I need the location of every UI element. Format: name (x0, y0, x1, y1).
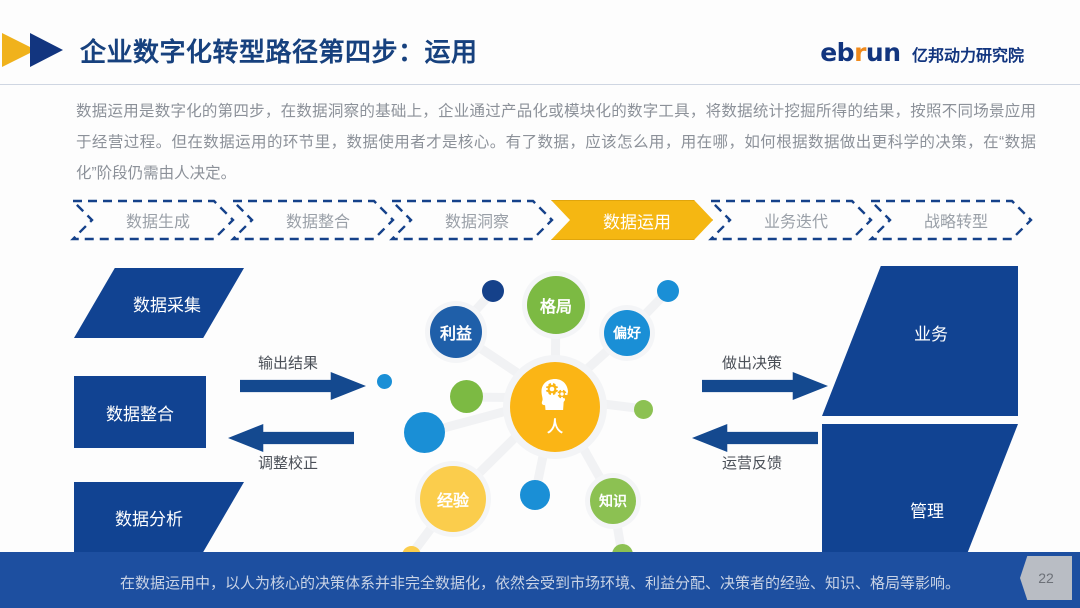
shape-data-analysis: 数据分析 (74, 482, 244, 552)
brand-wordmark: ebrun (820, 38, 900, 67)
intro-paragraph: 数据运用是数字化的第四步，在数据洞察的基础上，企业通过产品化或模块化的数字工具，… (76, 96, 1036, 189)
arrow-output-result-label: 输出结果 (258, 352, 318, 373)
arrow-operation-feedback-label: 运营反馈 (722, 452, 782, 473)
bubble-center-person: 人 (510, 362, 600, 452)
shape-business: 业务 (822, 266, 1018, 416)
bubble-dot (377, 374, 392, 389)
stepper-step-6[interactable]: 战略转型 (870, 200, 1032, 240)
bubble-1: 利益 (430, 306, 482, 358)
header-divider (0, 84, 1080, 85)
shape-data-analysis-label: 数据分析 (115, 505, 183, 530)
arrow-make-decision-label: 做出决策 (722, 352, 782, 373)
stepper-step-label: 数据运用 (593, 208, 671, 233)
bubble-label: 知识 (599, 491, 627, 511)
slide-canvas: 企业数字化转型路径第四步：运用 ebrun 亿邦动力研究院 数据运用是数字化的第… (0, 0, 1080, 608)
bubble-label: 偏好 (613, 323, 641, 343)
page-number-badge: 22 (1020, 556, 1072, 600)
arrow-adjust-correct-icon (228, 424, 354, 452)
brand-wordmark-accent: r (854, 38, 866, 67)
shape-management-label: 管理 (910, 497, 944, 522)
bubble-dot (404, 412, 445, 453)
bubble-label: 格局 (540, 293, 572, 317)
stepper-step-2[interactable]: 数据整合 (232, 200, 394, 240)
page-title: 企业数字化转型路径第四步：运用 (80, 32, 478, 69)
process-stepper: 数据生成数据整合数据洞察数据运用业务迭代战略转型 (72, 200, 1032, 240)
brand-wordmark-post: un (866, 38, 901, 67)
bubble-dot (520, 480, 550, 510)
stepper-step-5[interactable]: 业务迭代 (710, 200, 872, 240)
stepper-step-outline (870, 200, 1032, 240)
slide-header: 企业数字化转型路径第四步：运用 ebrun 亿邦动力研究院 (0, 0, 1080, 86)
bubble-dot (450, 380, 483, 413)
brand-wordmark-pre: eb (820, 38, 854, 67)
stepper-step-3[interactable]: 数据洞察 (391, 200, 553, 240)
head-gears-icon (535, 378, 575, 412)
bubble-network: 利益格局偏好经验知识 (372, 272, 702, 564)
shape-data-integration: 数据整合 (74, 376, 206, 448)
footer-caption: 在数据运用中，以人为核心的决策体系并非完全数据化，依然会受到市场环境、利益分配、… (0, 572, 1080, 593)
stepper-step-outline (391, 200, 553, 240)
arrow-adjust-correct-label: 调整校正 (258, 452, 318, 473)
shape-data-collection-label: 数据采集 (133, 291, 201, 316)
brand-logo: ebrun 亿邦动力研究院 (820, 40, 1024, 65)
bubble-5: 知识 (590, 478, 636, 524)
shape-data-collection: 数据采集 (74, 268, 244, 338)
stepper-step-outline (72, 200, 234, 240)
arrow-output-result-icon (240, 372, 366, 400)
bubble-4: 经验 (420, 466, 486, 532)
stepper-step-4[interactable]: 数据运用 (551, 200, 713, 240)
stepper-step-1[interactable]: 数据生成 (72, 200, 234, 240)
stepper-step-outline (232, 200, 394, 240)
arrow-make-decision-icon (702, 372, 828, 400)
bubble-center-label: 人 (547, 413, 563, 437)
shape-business-label: 业务 (914, 320, 948, 345)
brand-name-cn: 亿邦动力研究院 (912, 48, 1024, 65)
arrow-operation-feedback-icon (692, 424, 818, 452)
stepper-step-outline (710, 200, 872, 240)
bubble-dot (657, 280, 679, 302)
arrow-accent-blue-icon (30, 33, 63, 67)
bubble-3: 偏好 (604, 310, 650, 356)
bubble-2: 格局 (527, 276, 585, 334)
shape-data-integration-label: 数据整合 (106, 400, 174, 425)
bubble-label: 利益 (440, 320, 472, 344)
bubble-dot (634, 400, 653, 419)
bubble-label: 经验 (437, 487, 469, 511)
bubble-dot (482, 280, 504, 302)
